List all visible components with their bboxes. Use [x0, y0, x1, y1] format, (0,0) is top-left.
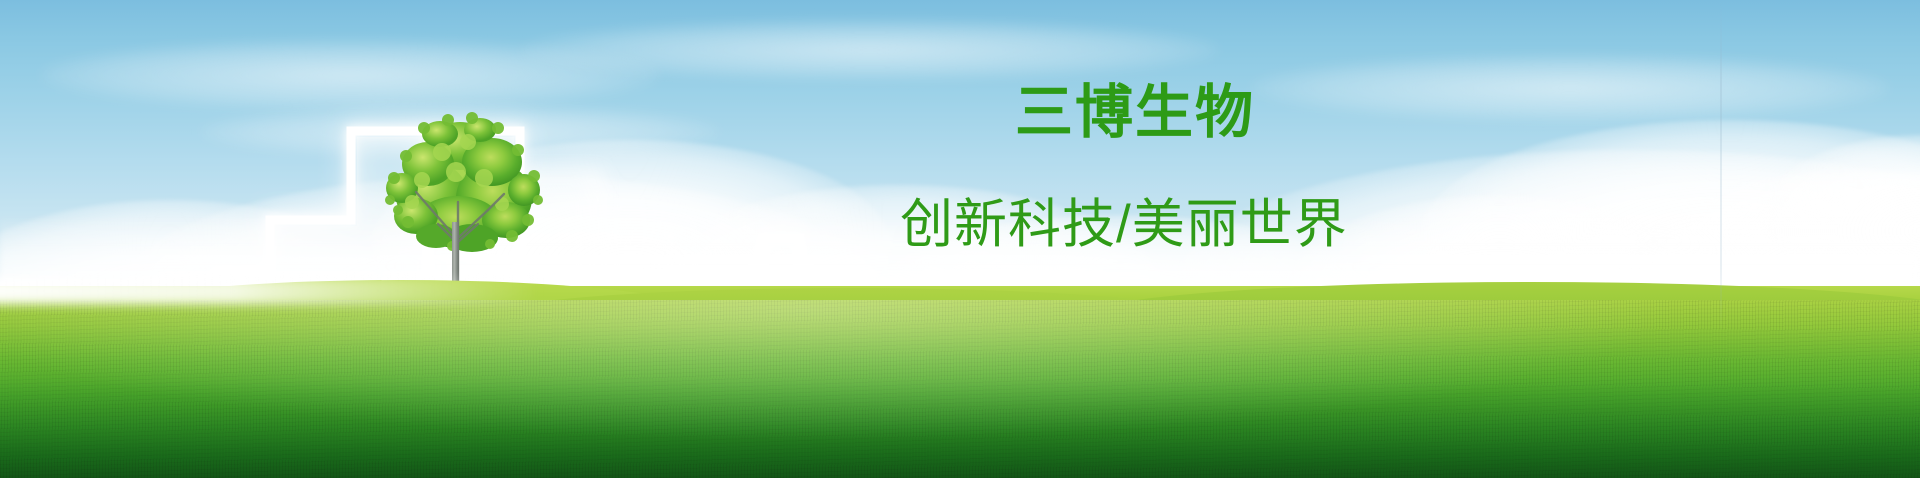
company-slogan: 创新科技/美丽世界: [900, 198, 1348, 251]
company-title: 三博生物: [1015, 84, 1255, 142]
hero-banner: 三博生物 创新科技/美丽世界: [0, 0, 1920, 478]
banner-text-block: 三博生物 创新科技/美丽世界: [0, 0, 1920, 478]
